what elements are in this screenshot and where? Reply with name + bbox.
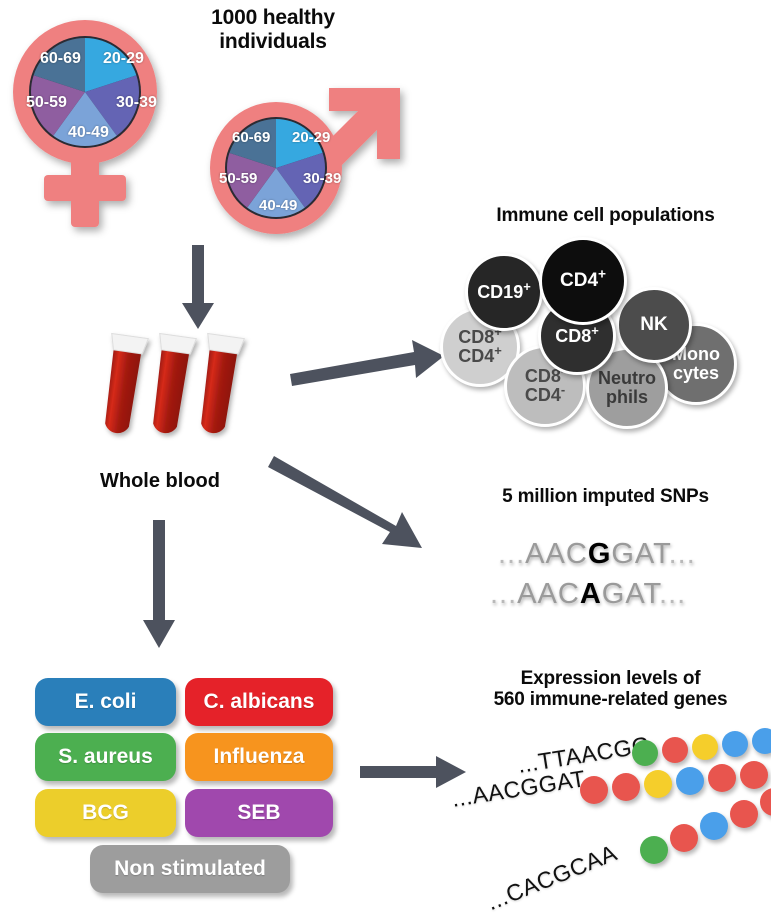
snp1-prefix: ...	[498, 538, 525, 570]
snp2-after: GAT	[602, 578, 659, 610]
immune-cell-cd19: CD19+	[465, 253, 543, 331]
snp1-after: GAT	[611, 538, 668, 570]
snp-sequence-line-1: ...AACGGAT...	[498, 538, 696, 571]
immune-cell-neutrophils-label: Neutrophils	[598, 369, 656, 406]
stimulus-seb-label: SEB	[237, 801, 280, 825]
arrow-down-blood-to-stimuli	[140, 520, 180, 655]
gene-bead	[700, 812, 728, 840]
stimulus-influenza[interactable]: Influenza	[185, 733, 333, 781]
female-gender-symbol: 20-29 30-39 40-49 50-59 60-69	[8, 12, 188, 237]
whole-blood-tubes	[96, 330, 266, 465]
snp2-before: AAC	[517, 578, 580, 610]
gene-bead	[692, 734, 718, 760]
stimulus-e-coli-label: E. coli	[75, 690, 137, 714]
gene-bead	[760, 788, 771, 816]
immune-cell-cd8-label: CD8+	[555, 327, 599, 346]
gene-bead	[730, 800, 758, 828]
arrow-blood-to-snps	[272, 450, 452, 560]
gene-bead	[676, 767, 704, 795]
stimulus-influenza-label: Influenza	[213, 745, 304, 769]
gene-strand-3-sequence: ...CACGCAA	[483, 839, 621, 916]
snp2-suffix: ...	[659, 578, 686, 610]
arrow-blood-to-immune-cells	[288, 330, 448, 390]
stimulus-seb[interactable]: SEB	[185, 789, 333, 837]
stimulus-e-coli[interactable]: E. coli	[35, 678, 176, 726]
section-title-snps: 5 million imputed SNPs	[450, 486, 761, 507]
gene-bead	[662, 737, 688, 763]
snp2-variant: A	[580, 578, 602, 610]
gene-expression-strand-cluster: ...TTAACGG ...AACGGAT ...CACGCAA	[440, 720, 771, 920]
gene-bead	[740, 761, 768, 789]
snp2-prefix: ...	[490, 578, 517, 610]
gene-bead	[722, 731, 748, 757]
page-title-cohort: 1000 healthy individuals	[168, 6, 378, 53]
stimulus-non-stimulated[interactable]: Non stimulated	[90, 845, 290, 893]
snp1-before: AAC	[525, 538, 588, 570]
gene-bead	[644, 770, 672, 798]
immune-cell-cd8neg-cd4neg-label: CD8-CD4-	[525, 367, 565, 404]
immune-cell-cd4-label: CD4+	[560, 271, 606, 291]
immune-cell-cd19-label: CD19+	[477, 283, 531, 302]
label-whole-blood: Whole blood	[60, 470, 260, 493]
immune-cell-nk-label: NK	[640, 315, 667, 335]
snp1-variant: G	[588, 538, 612, 570]
gene-bead	[640, 836, 668, 864]
stimulus-bcg-label: BCG	[82, 801, 129, 825]
gene-bead	[632, 740, 658, 766]
immune-cell-population-cluster: CD19+ CD4+ NK CD8+ CD8+CD4+ CD8-CD4- Neu…	[440, 235, 771, 425]
stimulus-s-aureus-label: S. aureus	[58, 745, 153, 769]
stimulus-bcg[interactable]: BCG	[35, 789, 176, 837]
gene-bead	[670, 824, 698, 852]
snp-sequence-line-2: ...AACAGAT...	[490, 578, 686, 611]
immune-cell-cd4: CD4+	[539, 237, 627, 325]
arrow-down-cohort-to-blood	[178, 245, 218, 335]
figure-canvas: 1000 healthy individuals	[0, 0, 771, 922]
immune-cell-cd8pos-cd4pos-label: CD8+CD4+	[458, 328, 502, 365]
gene-bead	[708, 764, 736, 792]
immune-cell-nk: NK	[616, 287, 692, 363]
stimulus-c-albicans[interactable]: C. albicans	[185, 678, 333, 726]
stimulus-c-albicans-label: C. albicans	[204, 690, 315, 714]
gene-bead	[612, 773, 640, 801]
snp1-suffix: ...	[669, 538, 696, 570]
section-title-immune-cells: Immune cell populations	[440, 205, 771, 226]
male-gender-symbol: 20-29 30-39 40-49 50-59 60-69	[196, 78, 416, 258]
gene-bead	[580, 776, 608, 804]
stimulus-non-stimulated-label: Non stimulated	[114, 857, 266, 881]
stimulus-s-aureus[interactable]: S. aureus	[35, 733, 176, 781]
gene-bead	[752, 728, 771, 754]
section-title-expression: Expression levels of 560 immune-related …	[450, 668, 771, 711]
